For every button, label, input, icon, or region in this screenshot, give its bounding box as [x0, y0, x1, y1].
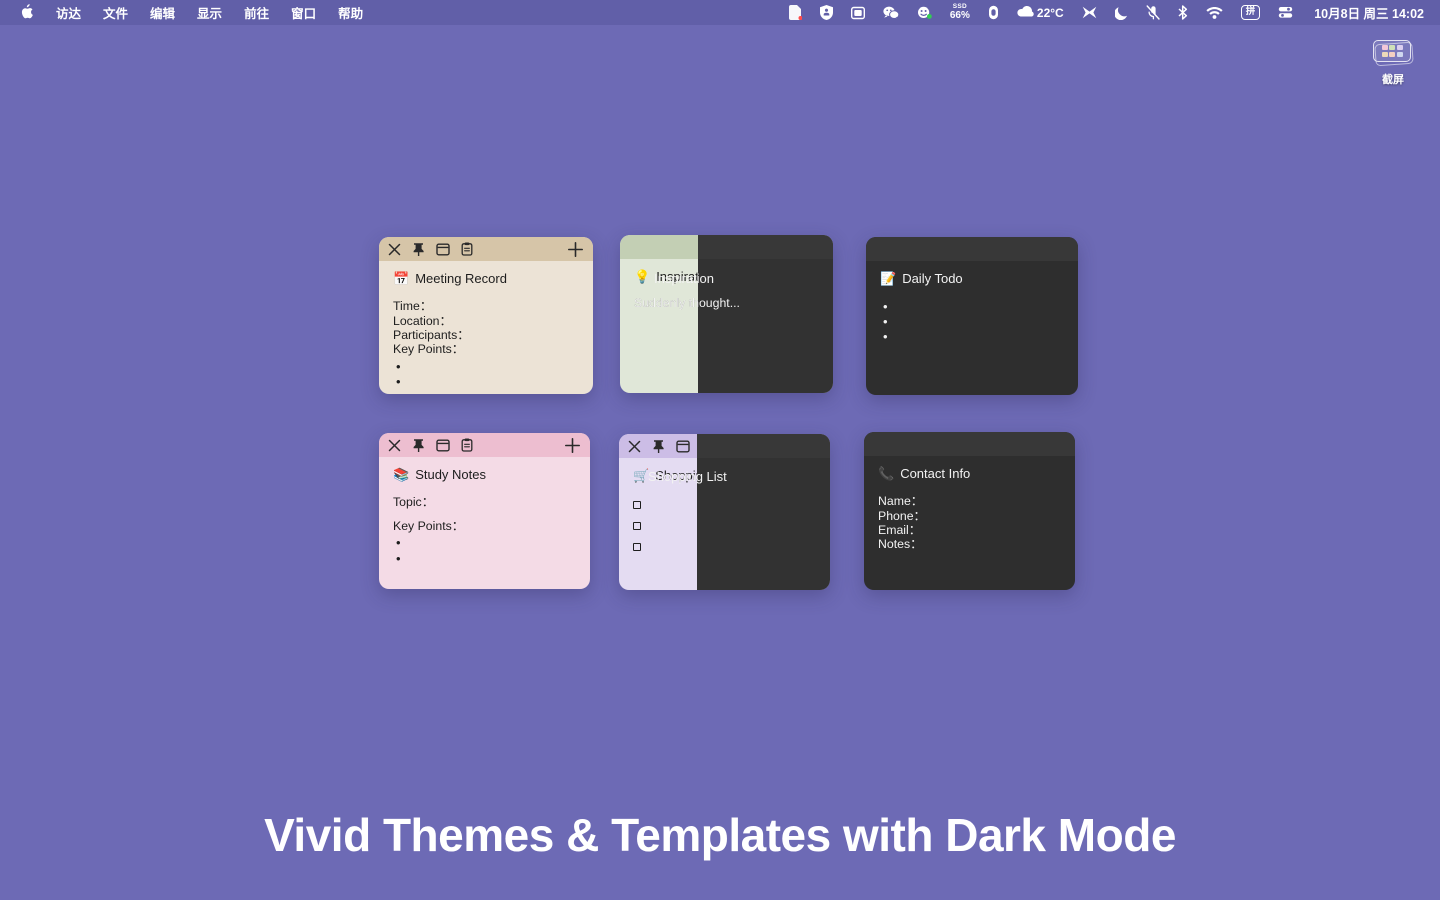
note-bullets: • •: [393, 359, 579, 390]
note-title-row: 📞 Contact Info: [878, 466, 1061, 483]
note-body[interactable]: 📚 Study Notes Topic： Key Points： • •: [379, 457, 590, 578]
note-header: [866, 237, 1078, 261]
telephone-icon: 📞: [878, 466, 894, 483]
checkbox-icon[interactable]: [633, 522, 641, 530]
note-header: [619, 434, 830, 458]
note-checkboxes[interactable]: [633, 496, 816, 556]
note-line: Notes：: [878, 538, 1061, 552]
note-meeting-record[interactable]: 📅 Meeting Record Time： Location： Partici…: [379, 237, 593, 394]
note-line: Phone：: [878, 509, 1061, 523]
note-line: Location：: [393, 314, 579, 328]
note-bullets: • •: [393, 535, 576, 566]
note-line: Email：: [878, 523, 1061, 537]
note-title: Contact Info: [900, 466, 970, 483]
note-contact-info[interactable]: 📞 Contact Info Name： Phone： Email： Notes…: [864, 432, 1075, 590]
bullet-item: •: [393, 359, 579, 374]
note-line: Participants：: [393, 328, 579, 342]
calendar-icon: 📅: [393, 271, 409, 288]
note-title-row: 📅 Meeting Record: [393, 271, 579, 288]
memo-icon: 📝: [880, 271, 896, 288]
pin-icon[interactable]: [652, 439, 665, 453]
checkbox-icon[interactable]: [633, 501, 641, 509]
bullet-item: •: [393, 551, 576, 566]
note-body[interactable]: 🛒 Shopping List: [619, 458, 830, 571]
page-caption: Vivid Themes & Templates with Dark Mode: [0, 808, 1440, 862]
clipboard-icon[interactable]: [461, 438, 473, 452]
bullet-item: •: [880, 314, 1064, 329]
checkbox-row[interactable]: [633, 538, 816, 556]
note-inspiration[interactable]: 💡 Inspiration Suddenly thought... Inspir…: [620, 235, 833, 393]
books-icon: 📚: [393, 467, 409, 484]
plus-icon[interactable]: [564, 437, 581, 454]
note-body[interactable]: 📝 Daily Todo • • •: [866, 261, 1078, 357]
note-title: Daily Todo: [902, 271, 962, 288]
bullet-item: •: [393, 374, 579, 389]
bullet-item: •: [393, 535, 576, 550]
note-line: Name：: [878, 495, 1061, 509]
sticky-notes-area: 📅 Meeting Record Time： Location： Partici…: [0, 0, 1440, 900]
note-header: [379, 433, 590, 457]
bullet-item: •: [880, 299, 1064, 314]
note-line: Suddenly thought...: [634, 297, 819, 311]
note-shopping-list[interactable]: 🛒 Shopping List Shopping List: [619, 434, 830, 590]
checkbox-icon[interactable]: [633, 543, 641, 551]
note-lines: Time： Location： Participants： Key Points…: [393, 300, 579, 357]
lightbulb-icon: 💡: [634, 269, 650, 286]
note-lines: Topic： Key Points：: [393, 496, 576, 534]
note-lines: Name： Phone： Email： Notes：: [878, 495, 1061, 552]
note-bullets: • • •: [880, 299, 1064, 345]
note-title: Inspiration: [656, 269, 716, 286]
close-icon[interactable]: [388, 243, 401, 256]
bullet-item: •: [880, 329, 1064, 344]
note-title: Shopping List: [655, 468, 734, 485]
clipboard-icon[interactable]: [461, 242, 473, 256]
collapse-icon[interactable]: [676, 440, 690, 453]
note-body[interactable]: 📅 Meeting Record Time： Location： Partici…: [379, 261, 593, 394]
collapse-icon[interactable]: [436, 439, 450, 452]
note-daily-todo[interactable]: 📝 Daily Todo • • •: [866, 237, 1078, 395]
note-line: Time：: [393, 300, 579, 314]
close-icon[interactable]: [628, 440, 641, 453]
note-title-row: 📝 Daily Todo: [880, 271, 1064, 288]
note-line: Topic：: [393, 496, 576, 510]
pin-icon[interactable]: [412, 438, 425, 452]
note-title: Meeting Record: [415, 271, 507, 288]
collapse-icon[interactable]: [436, 243, 450, 256]
checkbox-row[interactable]: [633, 517, 816, 535]
checkbox-row[interactable]: [633, 496, 816, 514]
note-header: [620, 235, 833, 259]
note-body[interactable]: 💡 Inspiration Suddenly thought...: [620, 259, 833, 323]
note-lines: Suddenly thought...: [634, 297, 819, 311]
line-gap: [393, 510, 576, 519]
pin-icon[interactable]: [412, 242, 425, 256]
close-icon[interactable]: [388, 439, 401, 452]
note-body[interactable]: 📞 Contact Info Name： Phone： Email： Notes…: [864, 456, 1075, 564]
note-header: [379, 237, 593, 261]
plus-icon[interactable]: [567, 241, 584, 258]
shopping-cart-icon: 🛒: [633, 468, 649, 485]
note-line: Key Points：: [393, 519, 576, 533]
note-title-row: 🛒 Shopping List: [633, 468, 816, 485]
note-header: [864, 432, 1075, 456]
note-line: Key Points：: [393, 343, 579, 357]
note-study-notes[interactable]: 📚 Study Notes Topic： Key Points： • •: [379, 433, 590, 589]
note-title-row: 📚 Study Notes: [393, 467, 576, 484]
note-title: Study Notes: [415, 467, 486, 484]
note-title-row: 💡 Inspiration: [634, 269, 819, 286]
